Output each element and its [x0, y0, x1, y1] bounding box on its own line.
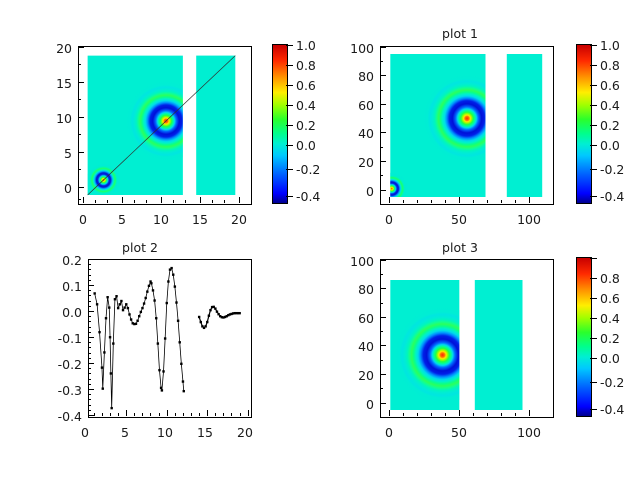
y-minor-tick	[88, 306, 91, 307]
data-marker	[166, 302, 168, 304]
colorbar-tick	[590, 196, 597, 197]
y-minor-tick	[88, 347, 91, 348]
y-minor-tick	[88, 259, 91, 260]
subplot-top-right: plot 1 100 80 60 40 20 0	[320, 0, 640, 240]
y-minor-tick	[88, 353, 91, 354]
y-major-tick	[380, 161, 386, 162]
x-minor-tick	[134, 413, 135, 416]
colorbar-ticklabel-1-2: 0.6	[600, 78, 634, 93]
y-ticklabel-0-4: 0	[38, 181, 72, 196]
plot-area-2	[88, 259, 252, 418]
x-ticklabel-0-1: 5	[111, 212, 133, 227]
data-marker	[204, 325, 206, 327]
colorbar-ticklabel-3-6: -0.4	[600, 402, 634, 417]
x-major-tick	[161, 197, 162, 203]
y-ticklabel-3-4: 20	[342, 368, 374, 383]
y-major-tick	[380, 260, 386, 261]
y-minor-tick	[78, 64, 81, 65]
y-minor-tick	[88, 327, 91, 328]
y-major-tick	[380, 132, 386, 133]
data-marker	[161, 389, 163, 391]
x-major-tick	[459, 197, 460, 203]
data-marker	[164, 337, 166, 339]
x-ticklabel-2-4: 20	[234, 425, 256, 440]
y-minor-tick	[88, 373, 91, 374]
data-marker	[103, 351, 105, 353]
y-major-tick	[380, 345, 386, 346]
colorbar-tick	[590, 45, 597, 46]
y-minor-tick	[78, 99, 81, 100]
x-major-tick	[389, 197, 390, 203]
x-minor-tick	[403, 200, 404, 203]
x-minor-tick	[515, 200, 516, 203]
data-marker	[214, 307, 216, 309]
colorbar-tick	[590, 358, 597, 359]
y-ticklabel-3-1: 80	[342, 282, 374, 297]
data-marker	[153, 299, 155, 301]
data-marker	[158, 369, 160, 371]
y-minor-tick	[88, 399, 91, 400]
colorbar-tick	[286, 85, 293, 86]
colorbar-ticklabel-1-7: -0.4	[600, 189, 634, 204]
y-major-tick	[380, 190, 386, 191]
data-marker	[109, 336, 111, 338]
x-minor-tick	[159, 413, 160, 416]
y-major-tick	[380, 374, 386, 375]
y-minor-tick	[88, 363, 91, 364]
colorbar-tick	[590, 298, 597, 299]
y-minor-tick	[88, 316, 91, 317]
y-ticklabel-1-0: 100	[342, 41, 374, 56]
colorbar-tick	[286, 145, 293, 146]
y-minor-tick	[88, 332, 91, 333]
colorbar-ticklabel-1-5: 0.0	[600, 138, 634, 153]
data-marker	[115, 295, 117, 297]
y-minor-tick	[88, 264, 91, 265]
x-major-tick	[83, 197, 84, 203]
colorbar-ticklabel-1-1: 0.8	[600, 58, 634, 73]
x-minor-tick	[224, 200, 225, 203]
data-marker	[106, 296, 108, 298]
x-minor-tick	[146, 200, 147, 203]
y-minor-tick	[88, 389, 91, 390]
y-minor-tick	[88, 285, 91, 286]
y-minor-tick	[380, 175, 383, 176]
y-ticklabel-1-3: 40	[342, 126, 374, 141]
data-marker	[206, 321, 208, 323]
field-canvas-3	[381, 260, 553, 417]
x-minor-tick	[445, 413, 446, 416]
x-ticklabel-1-0: 0	[378, 212, 400, 227]
data-marker	[170, 267, 172, 269]
x-ticklabel-3-0: 0	[378, 425, 400, 440]
colorbar-ticklabel-1-0: 1.0	[600, 38, 634, 53]
y-ticklabel-1-2: 60	[342, 98, 374, 113]
colorbar-tick	[286, 196, 293, 197]
colorbar-ticklabel-3-0: 0.8	[600, 271, 634, 286]
data-marker	[145, 297, 147, 299]
y-ticklabel-1-1: 80	[342, 69, 374, 84]
x-ticklabel-0-3: 15	[189, 212, 211, 227]
x-minor-tick	[487, 200, 488, 203]
data-marker	[101, 366, 103, 368]
data-marker	[148, 285, 150, 287]
y-major-tick	[380, 104, 386, 105]
x-minor-tick	[110, 413, 111, 416]
y-minor-tick	[88, 368, 91, 369]
x-minor-tick	[431, 200, 432, 203]
colorbar-tick	[590, 85, 597, 86]
x-minor-tick	[191, 413, 192, 416]
x-minor-tick	[403, 413, 404, 416]
colorbar-tick	[286, 65, 293, 66]
y-minor-tick	[88, 321, 91, 322]
colorbar-ticklabel-1-4: 0.2	[600, 118, 634, 133]
x-major-tick	[167, 410, 168, 416]
field-canvas-1	[381, 47, 553, 204]
x-ticklabel-0-0: 0	[72, 212, 94, 227]
x-minor-tick	[142, 413, 143, 416]
colorbar-ticklabel-3-5: -0.2	[600, 375, 634, 390]
colorbar-gradient-0	[272, 44, 288, 204]
data-marker	[114, 298, 116, 300]
y-minor-tick	[380, 388, 383, 389]
y-minor-tick	[88, 358, 91, 359]
x-ticklabel-1-2: 100	[510, 212, 548, 227]
data-marker	[102, 387, 104, 389]
data-marker	[155, 317, 157, 319]
colorbar-ticklabel-3-4: 0.0	[600, 351, 634, 366]
data-marker	[128, 313, 130, 315]
data-marker	[167, 280, 169, 282]
x-minor-tick	[231, 413, 232, 416]
y-minor-tick	[88, 269, 91, 270]
colorbar-tick	[590, 278, 597, 279]
data-marker	[141, 307, 143, 309]
data-marker	[120, 300, 122, 302]
x-ticklabel-2-0: 0	[74, 425, 96, 440]
x-major-tick	[529, 197, 530, 203]
x-minor-tick	[515, 413, 516, 416]
x-ticklabel-1-1: 50	[444, 212, 474, 227]
colorbar-ticklabel-3-1: 0.6	[600, 291, 634, 306]
y-minor-tick	[88, 342, 91, 343]
data-marker	[136, 320, 138, 322]
y-minor-tick	[380, 360, 383, 361]
y-major-tick	[380, 403, 386, 404]
data-marker	[110, 407, 112, 409]
x-major-tick	[459, 410, 460, 416]
y-minor-tick	[380, 61, 383, 62]
x-ticklabel-2-2: 10	[154, 425, 176, 440]
subplot-top-left: 20 15 10 5 0 0 5 10 15 20	[0, 0, 320, 240]
data-marker	[198, 316, 200, 318]
data-marker	[200, 321, 202, 323]
data-marker	[93, 292, 95, 294]
x-minor-tick	[240, 413, 241, 416]
y-major-tick	[78, 82, 84, 83]
y-ticklabel-2-4: -0.2	[44, 357, 82, 372]
colorbar-tick	[286, 169, 293, 170]
data-marker	[143, 302, 145, 304]
data-marker	[179, 341, 181, 343]
x-minor-tick	[102, 413, 103, 416]
colorbar-tick	[590, 338, 597, 339]
data-marker	[238, 312, 240, 314]
y-ticklabel-0-0: 20	[38, 41, 72, 56]
x-ticklabel-3-1: 50	[444, 425, 474, 440]
y-ticklabel-3-5: 0	[342, 397, 374, 412]
x-major-tick	[248, 410, 249, 416]
data-marker	[157, 342, 159, 344]
data-marker	[123, 306, 125, 308]
colorbar-tick	[590, 382, 597, 383]
line-canvas-2	[89, 260, 251, 417]
y-ticklabel-2-3: -0.1	[44, 331, 82, 346]
data-marker	[160, 387, 162, 389]
x-minor-tick	[150, 413, 151, 416]
plot-area-3	[380, 259, 554, 418]
y-minor-tick	[88, 379, 91, 380]
x-minor-tick	[417, 200, 418, 203]
y-major-tick	[78, 117, 84, 118]
y-ticklabel-0-1: 15	[38, 76, 72, 91]
y-minor-tick	[380, 274, 383, 275]
data-marker	[162, 370, 164, 372]
x-major-tick	[389, 410, 390, 416]
x-minor-tick	[417, 413, 418, 416]
data-marker	[182, 380, 184, 382]
x-minor-tick	[134, 200, 135, 203]
data-marker	[208, 315, 210, 317]
data-marker	[122, 309, 124, 311]
y-minor-tick	[88, 295, 91, 296]
data-marker	[112, 342, 114, 344]
x-minor-tick	[185, 200, 186, 203]
y-minor-tick	[78, 199, 81, 200]
y-minor-tick	[88, 290, 91, 291]
x-minor-tick	[199, 413, 200, 416]
x-minor-tick	[107, 200, 108, 203]
x-minor-tick	[487, 413, 488, 416]
data-marker	[209, 309, 211, 311]
x-ticklabel-0-2: 10	[150, 212, 172, 227]
y-ticklabel-1-5: 0	[342, 184, 374, 199]
y-ticklabel-2-5: -0.3	[44, 383, 82, 398]
data-marker	[135, 323, 137, 325]
y-ticklabel-3-3: 40	[342, 339, 374, 354]
x-minor-tick	[445, 200, 446, 203]
figure-canvas: 20 15 10 5 0 0 5 10 15 20	[0, 0, 640, 480]
y-minor-tick	[88, 280, 91, 281]
subplot-bottom-left: plot 2 0.2 0.1 0.0 -0.1 -0.2 -0.3 -0.4	[0, 240, 320, 480]
data-marker	[175, 301, 177, 303]
y-major-tick	[380, 317, 386, 318]
x-major-tick	[126, 410, 127, 416]
x-ticklabel-2-3: 15	[194, 425, 216, 440]
x-minor-tick	[118, 413, 119, 416]
y-major-tick	[380, 47, 386, 48]
y-minor-tick	[88, 384, 91, 385]
x-minor-tick	[175, 413, 176, 416]
x-minor-tick	[173, 200, 174, 203]
data-marker	[172, 273, 174, 275]
data-marker	[146, 290, 148, 292]
data-marker	[110, 372, 112, 374]
colorbar-tick	[286, 105, 293, 106]
y-major-tick	[380, 288, 386, 289]
x-minor-tick	[95, 200, 96, 203]
data-marker	[177, 320, 179, 322]
y-minor-tick	[380, 147, 383, 148]
data-marker	[117, 307, 119, 309]
x-minor-tick	[212, 200, 213, 203]
data-marker	[174, 285, 176, 287]
plot-area-1	[380, 46, 554, 205]
colorbar-tick	[590, 409, 597, 410]
field-canvas-0	[79, 47, 251, 204]
colorbar-tick	[590, 318, 597, 319]
y-minor-tick	[88, 301, 91, 302]
data-marker	[183, 390, 185, 392]
x-minor-tick	[215, 413, 216, 416]
colorbar-gradient-3	[576, 257, 592, 417]
data-marker	[105, 317, 107, 319]
data-marker	[98, 331, 100, 333]
x-minor-tick	[183, 413, 184, 416]
y-ticklabel-2-6: -0.4	[44, 409, 82, 424]
colorbar-tick	[286, 125, 293, 126]
colorbar-gradient-1	[576, 44, 592, 204]
x-minor-tick	[223, 413, 224, 416]
data-marker	[138, 315, 140, 317]
y-ticklabel-2-1: 0.1	[44, 279, 82, 294]
x-minor-tick	[501, 413, 502, 416]
data-marker	[108, 306, 110, 308]
y-ticklabel-2-0: 0.2	[44, 253, 82, 268]
y-major-tick	[78, 47, 84, 48]
y-ticklabel-3-0: 100	[342, 254, 374, 269]
y-minor-tick	[88, 394, 91, 395]
x-ticklabel-0-4: 20	[228, 212, 250, 227]
y-minor-tick	[380, 303, 383, 304]
plot-area-0	[78, 46, 252, 205]
y-minor-tick	[88, 311, 91, 312]
y-ticklabel-0-2: 10	[38, 111, 72, 126]
colorbar-tick	[590, 105, 597, 106]
x-minor-tick	[473, 200, 474, 203]
colorbar-ticklabel-3-3: 0.2	[600, 331, 634, 346]
x-minor-tick	[431, 413, 432, 416]
colorbar-ticklabel-3-2: 0.4	[600, 311, 634, 326]
panel-title-3: plot 3	[370, 240, 550, 255]
y-minor-tick	[78, 134, 81, 135]
y-ticklabel-0-3: 5	[38, 146, 72, 161]
data-marker	[119, 303, 121, 305]
data-marker	[180, 363, 182, 365]
y-ticklabel-3-2: 60	[342, 311, 374, 326]
colorbar-ticklabel-1-3: 0.4	[600, 98, 634, 113]
x-ticklabel-2-1: 5	[114, 425, 136, 440]
x-ticklabel-3-2: 100	[510, 425, 548, 440]
subplot-bottom-right: plot 3 100 80 60 40 20 0	[320, 240, 640, 480]
data-marker	[216, 310, 218, 312]
colorbar-tick	[590, 169, 597, 170]
y-major-tick	[78, 187, 84, 188]
x-major-tick	[239, 197, 240, 203]
data-marker	[125, 303, 127, 305]
y-minor-tick	[88, 275, 91, 276]
data-marker	[140, 311, 142, 313]
y-minor-tick	[88, 405, 91, 406]
y-minor-tick	[88, 337, 91, 338]
x-minor-tick	[473, 413, 474, 416]
colorbar-tick	[286, 45, 293, 46]
x-major-tick	[122, 197, 123, 203]
x-major-tick	[200, 197, 201, 203]
colorbar-tick	[590, 65, 597, 66]
data-marker	[130, 318, 132, 320]
x-minor-tick	[501, 200, 502, 203]
panel-title-1: plot 1	[370, 26, 550, 41]
colorbar-tick	[590, 125, 597, 126]
data-marker	[127, 307, 129, 309]
colorbar-ticklabel-1-6: -0.2	[600, 162, 634, 177]
data-marker	[150, 282, 152, 284]
y-major-tick	[380, 75, 386, 76]
y-minor-tick	[380, 118, 383, 119]
data-marker	[152, 289, 154, 291]
y-minor-tick	[380, 331, 383, 332]
y-ticklabel-1-4: 20	[342, 155, 374, 170]
data-marker	[96, 303, 98, 305]
x-major-tick	[207, 410, 208, 416]
y-minor-tick	[380, 90, 383, 91]
x-major-tick	[529, 410, 530, 416]
y-minor-tick	[88, 410, 91, 411]
colorbar-tick	[590, 145, 597, 146]
y-ticklabel-2-2: 0.0	[44, 305, 82, 320]
y-major-tick	[78, 152, 84, 153]
y-minor-tick	[78, 169, 81, 170]
x-minor-tick	[94, 413, 95, 416]
colorbar-tick	[590, 258, 597, 259]
